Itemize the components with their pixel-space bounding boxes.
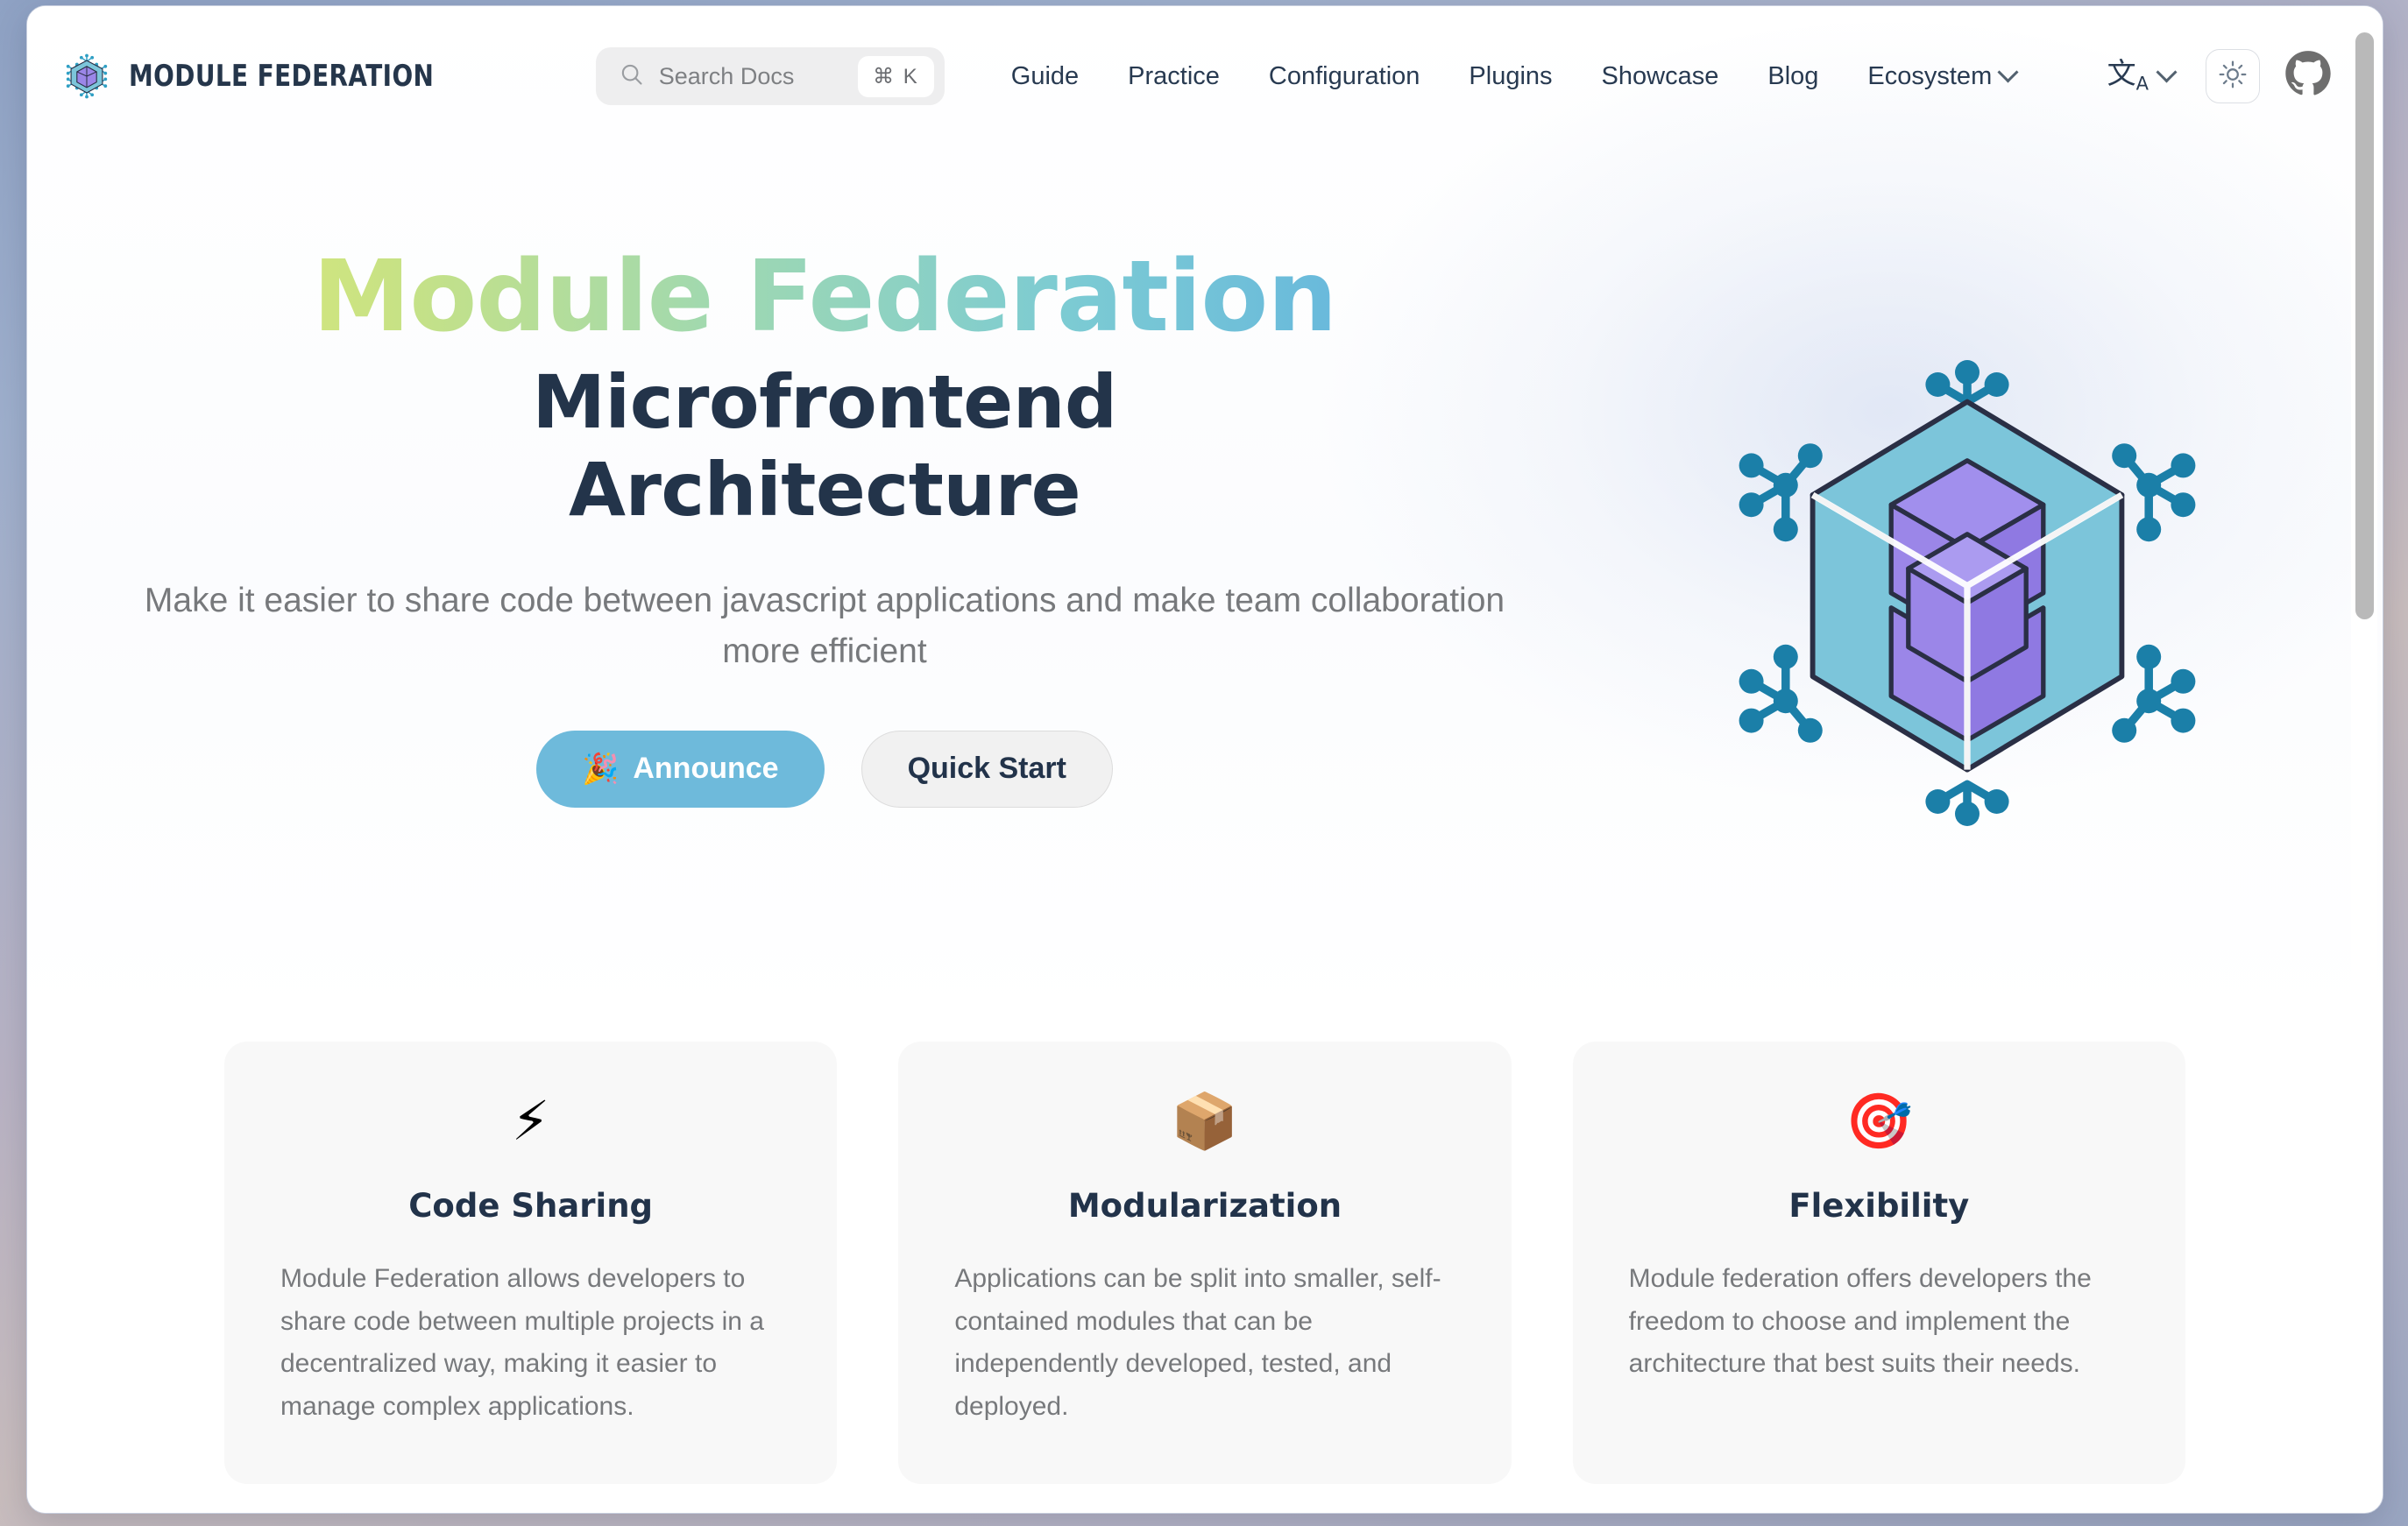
feature-title: Modularization: [954, 1187, 1455, 1225]
nav-label: Configuration: [1269, 62, 1420, 91]
github-link[interactable]: [2283, 51, 2334, 102]
announce-button[interactable]: 🎉 Announce: [536, 731, 825, 808]
search-icon: [619, 61, 645, 92]
translate-icon: 文A: [2107, 59, 2149, 94]
theme-toggle-button[interactable]: [2206, 49, 2260, 103]
browser-window: MODULE FEDERATION Search Docs ⌘ K Guide …: [26, 5, 2383, 1514]
page-title: Module Federation: [62, 243, 1587, 352]
nav-item-guide[interactable]: Guide: [987, 53, 1103, 100]
feature-card-code-sharing: ⚡ Code Sharing Module Federation allows …: [224, 1042, 837, 1484]
feature-description: Module Federation allows developers to s…: [280, 1258, 781, 1428]
feature-title: Code Sharing: [280, 1187, 781, 1225]
feature-cards: ⚡ Code Sharing Module Federation allows …: [27, 1042, 2383, 1484]
main-navigation: Guide Practice Configuration Plugins Sho…: [987, 53, 2090, 100]
nav-label: Showcase: [1602, 62, 1719, 91]
chevron-down-icon: [2156, 61, 2177, 82]
language-switcher[interactable]: 文A: [2099, 53, 2183, 99]
search-shortcut-badge: ⌘ K: [858, 56, 934, 97]
feature-description: Module federation offers developers the …: [1629, 1258, 2129, 1386]
hero-description: Make it easier to share code between jav…: [106, 576, 1543, 678]
translate-icon-sub: A: [2136, 74, 2149, 95]
brand-name: MODULE FEDERATION: [129, 59, 434, 94]
party-popper-icon: 🎉: [582, 752, 619, 787]
hero-subtitle-line-2: Architecture: [62, 447, 1587, 533]
nav-label: Plugins: [1469, 62, 1552, 91]
target-icon: 🎯: [1629, 1094, 2129, 1148]
scrollbar-thumb[interactable]: [2355, 32, 2374, 619]
feature-card-flexibility: 🎯 Flexibility Module federation offers d…: [1573, 1042, 2185, 1484]
package-icon: 📦: [954, 1094, 1455, 1148]
quick-start-button[interactable]: Quick Start: [861, 731, 1113, 808]
hero-section: Module Federation Microfrontend Architec…: [27, 146, 2383, 1022]
nav-label: Practice: [1128, 62, 1220, 91]
nav-item-blog[interactable]: Blog: [1743, 53, 1843, 100]
nav-item-plugins[interactable]: Plugins: [1444, 53, 1576, 100]
feature-title: Flexibility: [1629, 1187, 2129, 1225]
github-icon: [2284, 50, 2333, 103]
isometric-cube-network-illustration: [1587, 146, 2348, 838]
search-placeholder: Search Docs: [659, 63, 844, 90]
sun-icon: [2218, 60, 2248, 94]
page-scrollbar[interactable]: [2351, 13, 2377, 1506]
nav-item-practice[interactable]: Practice: [1103, 53, 1244, 100]
hero-actions: 🎉 Announce Quick Start: [62, 731, 1587, 808]
nav-label: Ecosystem: [1867, 62, 1992, 91]
feature-card-modularization: 📦 Modularization Applications can be spl…: [898, 1042, 1511, 1484]
nav-item-ecosystem[interactable]: Ecosystem: [1843, 53, 2040, 100]
brand-logo-link[interactable]: MODULE FEDERATION: [62, 52, 501, 101]
feature-description: Applications can be split into smaller, …: [954, 1258, 1455, 1428]
nav-label: Blog: [1767, 62, 1818, 91]
hero-copy: Module Federation Microfrontend Architec…: [62, 146, 1587, 808]
chevron-down-icon: [1998, 61, 2019, 82]
search-input[interactable]: Search Docs ⌘ K: [596, 47, 945, 105]
announce-button-label: Announce: [633, 752, 778, 786]
nav-item-showcase[interactable]: Showcase: [1577, 53, 1744, 100]
page-viewport: MODULE FEDERATION Search Docs ⌘ K Guide …: [27, 6, 2383, 1513]
nav-item-configuration[interactable]: Configuration: [1244, 53, 1445, 100]
hero-subtitle-line-1: Microfrontend: [62, 359, 1587, 446]
header-tools: 文A: [2099, 49, 2334, 103]
module-federation-cube-icon: [62, 52, 111, 101]
lightning-icon: ⚡: [280, 1094, 781, 1148]
nav-label: Guide: [1011, 62, 1079, 91]
site-header: MODULE FEDERATION Search Docs ⌘ K Guide …: [27, 6, 2383, 146]
